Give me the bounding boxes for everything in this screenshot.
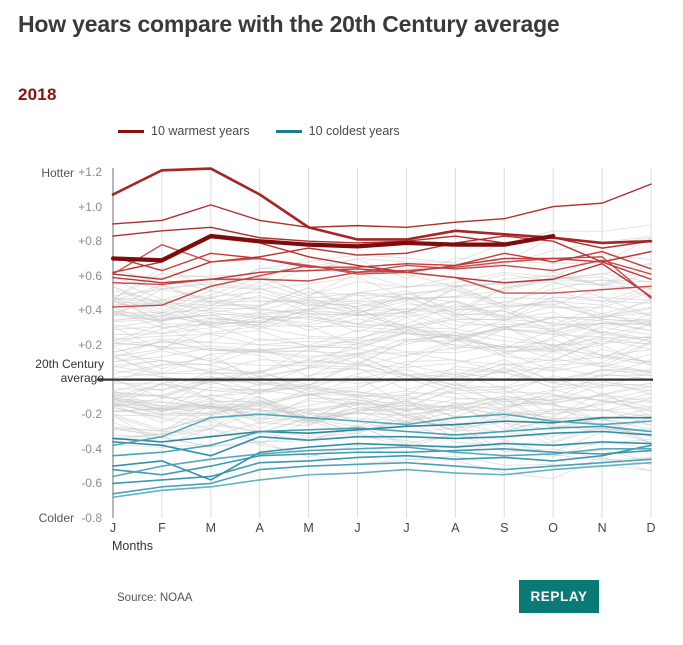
chart-legend: 10 warmest years 10 coldest years [118, 124, 400, 138]
x-axis-tick-label: N [590, 521, 614, 535]
legend-item-coldest[interactable]: 10 coldest years [276, 124, 400, 138]
y-axis-tick-label: +0.4 [20, 303, 102, 317]
x-axis-tick-label: M [297, 521, 321, 535]
y-axis-tick-label: +1.0 [20, 200, 102, 214]
line-chart-svg [0, 160, 683, 535]
y-axis-tick-label: +0.6 [20, 269, 102, 283]
infographic-root: How years compare with the 20th Century … [0, 0, 683, 645]
x-axis-tick-label: A [443, 521, 467, 535]
y-axis-top-label: Hotter [18, 166, 74, 180]
highlight-year-label: 2018 [18, 85, 57, 105]
x-axis-tick-label: A [248, 521, 272, 535]
x-axis-tick-label: S [492, 521, 516, 535]
x-axis-tick-label: D [639, 521, 663, 535]
source-note: Source: NOAA [117, 592, 192, 604]
x-axis-title: Months [112, 539, 153, 553]
line-swatch-icon-warm [118, 130, 144, 133]
zero-line-label-line2: average [0, 371, 104, 385]
y-axis-tick-label: -0.6 [20, 476, 102, 490]
page-title: How years compare with the 20th Century … [18, 10, 638, 39]
replay-button[interactable]: REPLAY [519, 580, 599, 613]
y-axis-tick-label: -0.4 [20, 442, 102, 456]
legend-label-warmest: 10 warmest years [151, 124, 250, 138]
y-axis-tick-label: -0.2 [20, 407, 102, 421]
x-axis-tick-label: O [541, 521, 565, 535]
x-axis-tick-label: J [101, 521, 125, 535]
y-axis-tick-label: +0.8 [20, 234, 102, 248]
x-axis-tick-label: J [394, 521, 418, 535]
y-axis-bottom-label: Colder [18, 511, 74, 525]
x-axis-tick-label: J [346, 521, 370, 535]
x-axis-tick-label: M [199, 521, 223, 535]
x-axis-tick-label: F [150, 521, 174, 535]
chart-plot-area [0, 160, 683, 535]
y-axis-tick-label: +0.2 [20, 338, 102, 352]
legend-item-warmest[interactable]: 10 warmest years [118, 124, 250, 138]
zero-line-label-line1: 20th Century [0, 357, 104, 371]
line-swatch-icon-cold [276, 130, 302, 133]
legend-label-coldest: 10 coldest years [309, 124, 400, 138]
